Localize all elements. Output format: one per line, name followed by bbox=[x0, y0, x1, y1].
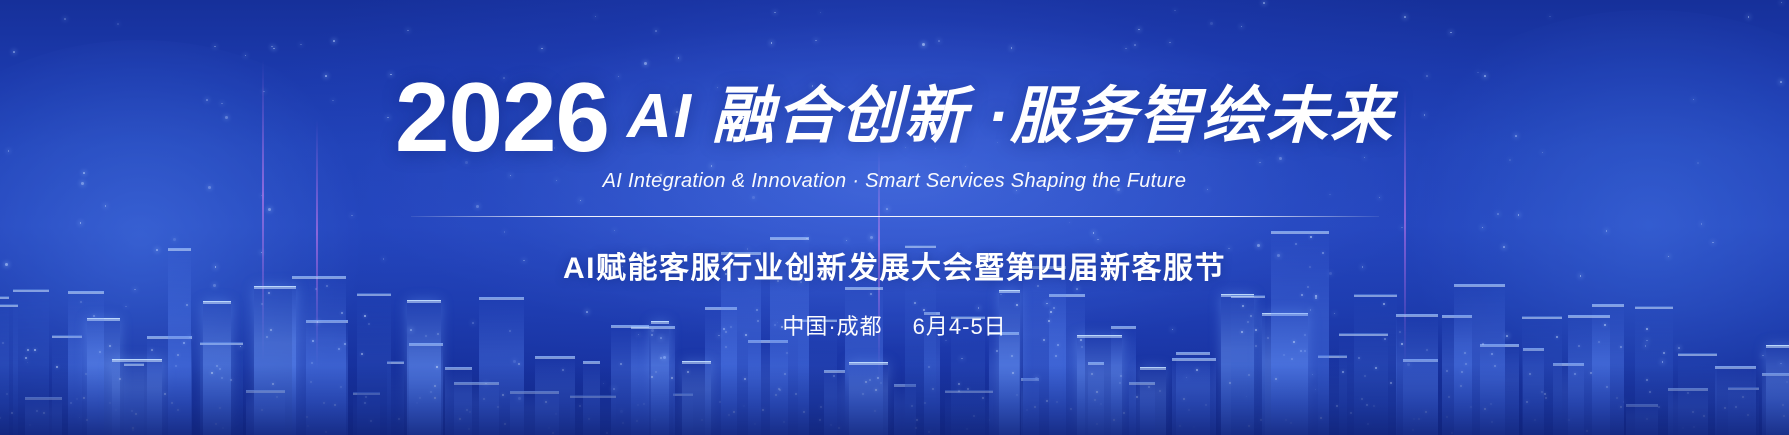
year-text: 2026 bbox=[395, 72, 609, 162]
divider-rule bbox=[411, 216, 1379, 217]
event-location: 中国·成都 bbox=[782, 309, 882, 341]
event-meta: 中国·成都 6月4-5日 bbox=[782, 309, 1006, 341]
event-banner: 2026 AI 融合创新 ·服务智绘未来 AI Integration & In… bbox=[0, 0, 1789, 435]
event-date: 6月4-5日 bbox=[913, 309, 1007, 341]
title-english: AI Integration & Innovation · Smart Serv… bbox=[603, 170, 1187, 192]
title-chinese: AI 融合创新 ·服务智绘未来 bbox=[627, 85, 1394, 148]
event-name: AI赋能客服行业创新发展大会暨第四届新客服节 bbox=[563, 243, 1226, 287]
title-block: AI 融合创新 ·服务智绘未来 bbox=[627, 85, 1394, 148]
headline: 2026 AI 融合创新 ·服务智绘未来 bbox=[395, 72, 1394, 162]
banner-content: 2026 AI 融合创新 ·服务智绘未来 AI Integration & In… bbox=[0, 0, 1789, 435]
